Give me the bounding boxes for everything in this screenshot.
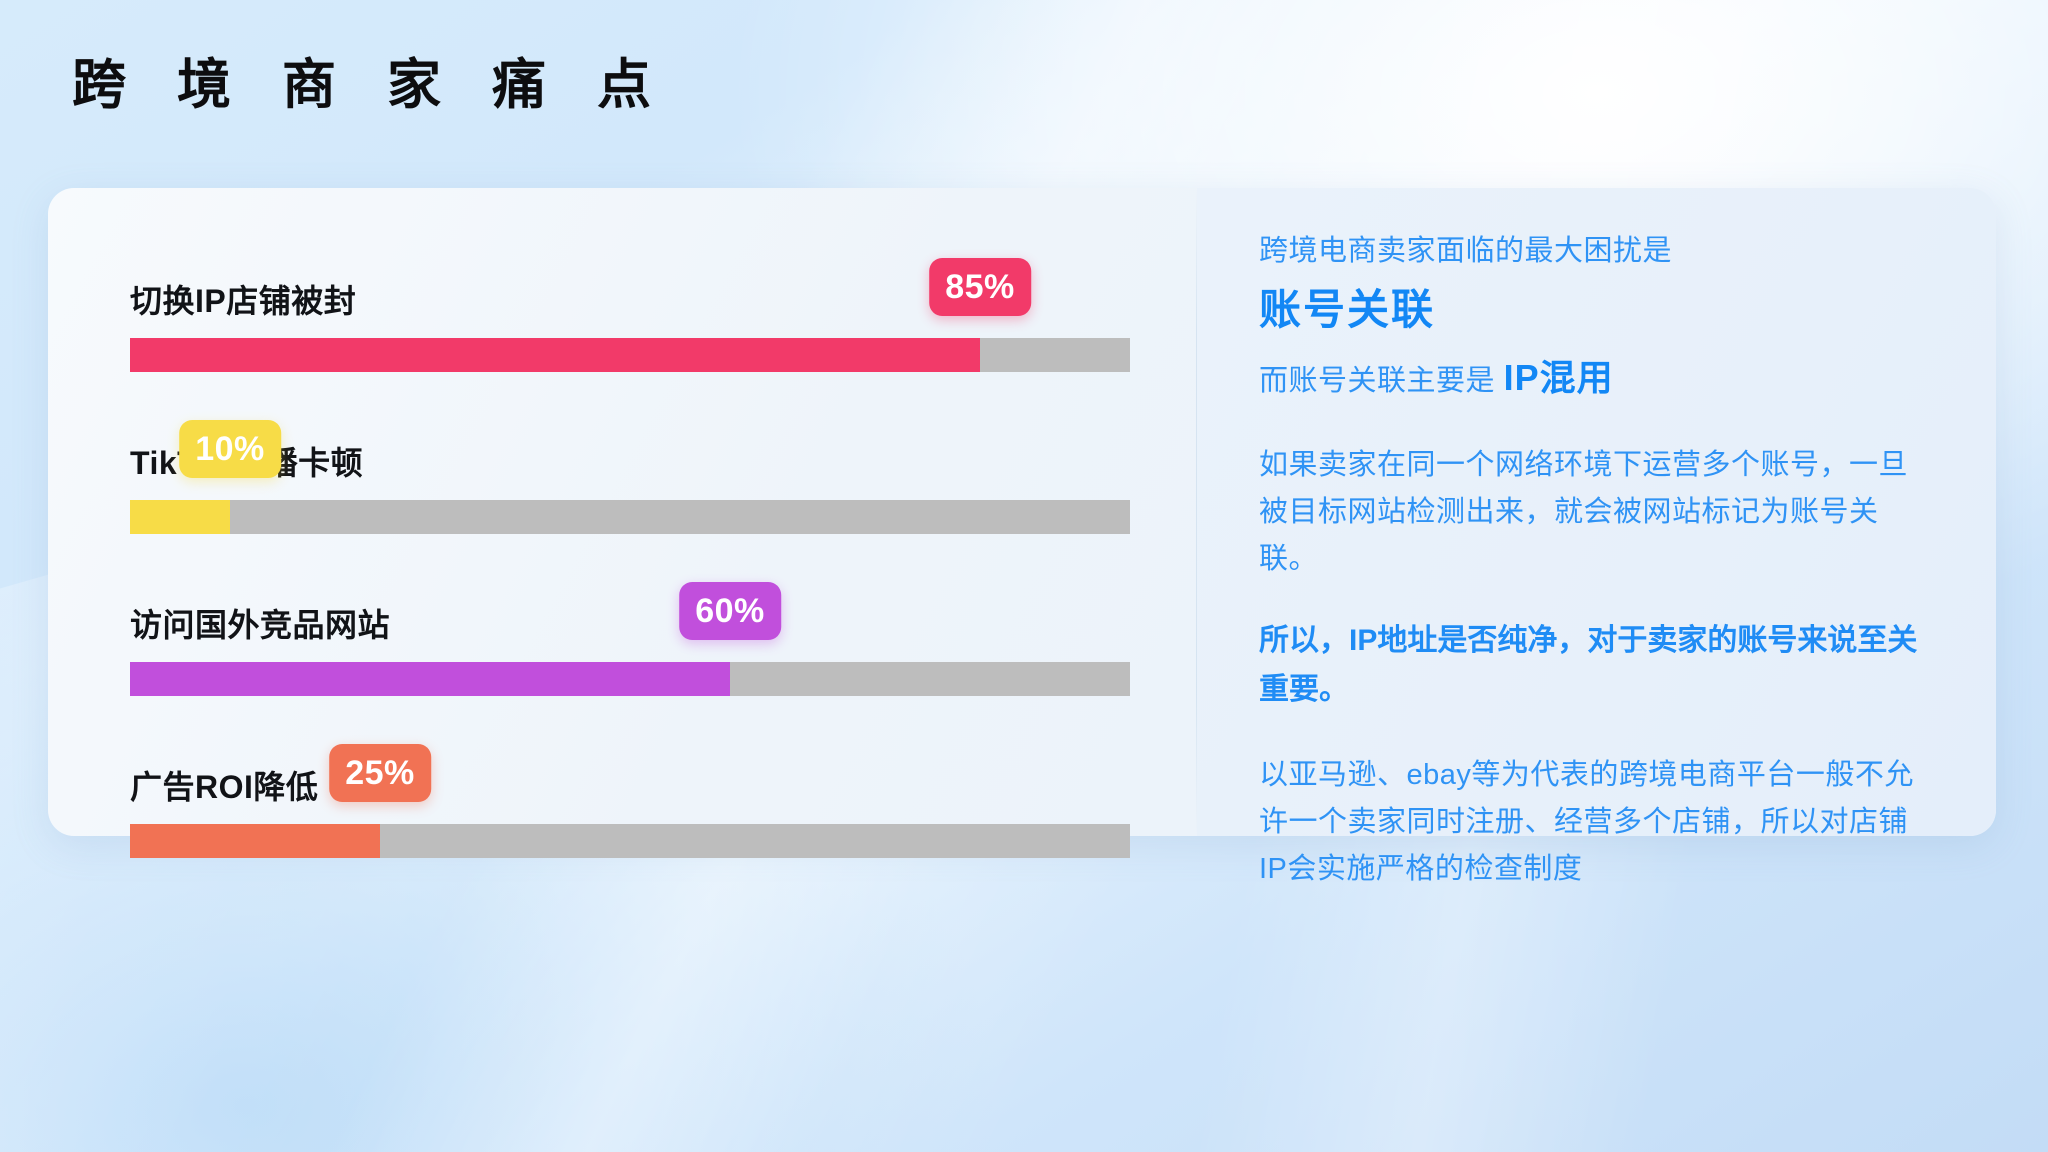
- bar-track: [130, 824, 1130, 858]
- bar-fill: [130, 338, 980, 372]
- content-card: 切换IP店铺被封 85% TikTok直播卡顿 10% 访问国外竞品网站 60%: [48, 188, 1996, 836]
- sub-strong-text: IP混用: [1504, 357, 1614, 398]
- bar-track: [130, 662, 1130, 696]
- bar-head: 切换IP店铺被封 85%: [130, 246, 1196, 338]
- bar-track: [130, 500, 1130, 534]
- bar-label: 访问国外竞品网站: [130, 600, 390, 646]
- bar-value-badge: 10%: [179, 420, 281, 478]
- bar-row: 切换IP店铺被封 85%: [48, 246, 1196, 408]
- bar-value-badge: 60%: [679, 582, 781, 640]
- bar-fill: [130, 500, 230, 534]
- lead-text: 跨境电商卖家面临的最大困扰是: [1259, 232, 1936, 271]
- description-panel: 跨境电商卖家面临的最大困扰是 账号关联 而账号关联主要是 IP混用 如果卖家在同…: [1197, 188, 1996, 836]
- bar-head: 访问国外竞品网站 60%: [130, 570, 1196, 662]
- bar-label: 广告ROI降低: [130, 762, 318, 808]
- bar-row: TikTok直播卡顿 10%: [48, 408, 1196, 570]
- bar-row: 广告ROI降低 25%: [48, 732, 1196, 894]
- bar-fill: [130, 662, 730, 696]
- sub-heading: 而账号关联主要是 IP混用: [1259, 354, 1936, 403]
- bar-label: 切换IP店铺被封: [130, 276, 356, 322]
- bar-value-badge: 25%: [329, 744, 431, 802]
- bar-row: 访问国外竞品网站 60%: [48, 570, 1196, 732]
- bar-value-badge: 85%: [929, 258, 1031, 316]
- paragraph-2: 所以，IP地址是否纯净，对于卖家的账号来说至关重要。: [1259, 617, 1936, 714]
- sub-prefix-text: 而账号关联主要是: [1259, 365, 1495, 397]
- bar-track: [130, 338, 1130, 372]
- page-title: 跨 境 商 家 痛 点: [72, 56, 669, 115]
- paragraph-1: 如果卖家在同一个网络环境下运营多个账号，一旦被目标网站检测出来，就会被网站标记为…: [1259, 442, 1936, 583]
- bar-fill: [130, 824, 380, 858]
- paragraph-3: 以亚马逊、ebay等为代表的跨境电商平台一般不允许一个卖家同时注册、经营多个店铺…: [1259, 752, 1936, 893]
- bar-head: TikTok直播卡顿 10%: [130, 408, 1196, 500]
- bar-chart-panel: 切换IP店铺被封 85% TikTok直播卡顿 10% 访问国外竞品网站 60%: [48, 188, 1196, 836]
- bar-head: 广告ROI降低 25%: [130, 732, 1196, 824]
- keyword-heading: 账号关联: [1259, 285, 1936, 335]
